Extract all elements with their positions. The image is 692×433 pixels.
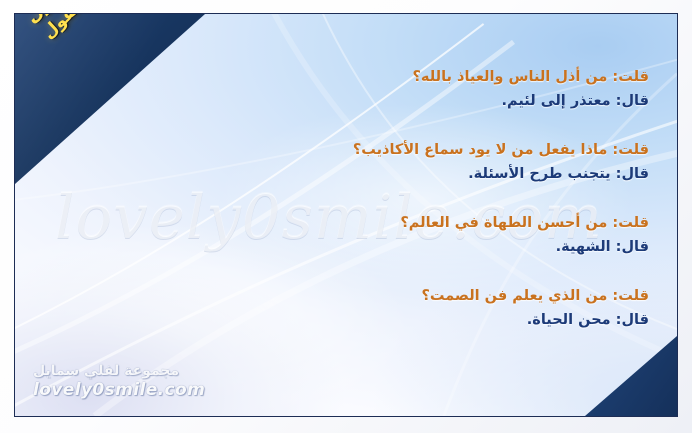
qa-answer: قال: يتجنب طرح الأسئلة. [209,163,649,185]
image-card: lovely0smile.com القول المقبول من نتائج … [0,0,692,433]
qa-item: قلت: من أذل الناس والعياذ بالله؟ قال: مع… [209,66,649,113]
qa-item: قلت: ماذا يفعل من لا يود سماع الأكاذيب؟ … [209,139,649,186]
qa-question: قلت: من أذل الناس والعياذ بالله؟ [209,66,649,88]
qa-question: قلت: من أحسن الطهاة في العالم؟ [209,212,649,234]
qa-item: قلت: من الذي يعلم فن الصمت؟ قال: محن الح… [209,285,649,332]
qa-answer: قال: الشهية. [209,236,649,258]
card-frame: lovely0smile.com القول المقبول من نتائج … [14,13,678,417]
qa-answer: قال: محن الحياة. [209,309,649,331]
qa-answer: قال: معتذر إلى لئيم. [209,90,649,112]
qa-question: قلت: ماذا يفعل من لا يود سماع الأكاذيب؟ [209,139,649,161]
qa-question: قلت: من الذي يعلم فن الصمت؟ [209,285,649,307]
qa-list: قلت: من أذل الناس والعياذ بالله؟ قال: مع… [209,66,649,332]
qa-item: قلت: من أحسن الطهاة في العالم؟ قال: الشه… [209,212,649,259]
